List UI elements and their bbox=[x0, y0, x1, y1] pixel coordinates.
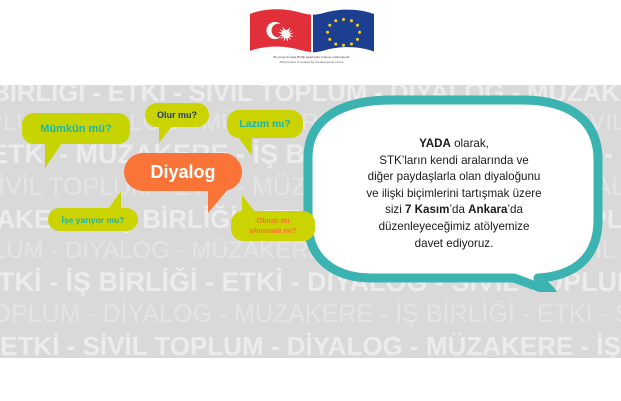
bubble-diyalog: Diyalog bbox=[124, 153, 242, 191]
bubble-line-5-mid: ’da bbox=[449, 203, 468, 216]
bubble-mumkun-mu-label: Mümkün mü? bbox=[22, 113, 130, 144]
bubble-tail bbox=[208, 187, 230, 213]
flags-svg bbox=[248, 6, 376, 56]
bubble-tail bbox=[45, 143, 62, 168]
bubble-olmali-mi: Olmalı mı olmamalı mı? bbox=[231, 211, 315, 241]
bubble-city: Ankara bbox=[468, 203, 507, 216]
poster-canvas: Bu proje Avrupa Birliği tarafından finan… bbox=[0, 0, 621, 401]
background-row: İŞ BİRLİĞİ - ETKİ - SİVİL TOPLUM - DİYAL… bbox=[0, 333, 621, 358]
bubble-ise-yariyor-mu-label: İşe yarıyor mu? bbox=[48, 208, 138, 231]
bubble-line-5: sizi 7 Kasım’da Ankara’da bbox=[318, 202, 590, 219]
footer-area: CFCU T.C. Dışişleri Bakanlığı Av bbox=[0, 358, 621, 401]
bubble-olmali-line-1: Olmalı mı bbox=[257, 216, 290, 226]
bubble-olmali-mi-label: Olmalı mı olmamalı mı? bbox=[231, 211, 315, 241]
bubble-line-1-bold: YADA bbox=[419, 137, 451, 150]
bubble-line-3: diğer paydaşlarla olan diyaloğunu bbox=[318, 169, 590, 186]
bubble-tail bbox=[159, 126, 172, 143]
bubble-line-1: YADA olarak, bbox=[318, 136, 590, 153]
funding-note-en: This project is funded by the European U… bbox=[232, 60, 392, 65]
bubble-diyalog-label: Diyalog bbox=[124, 153, 242, 191]
bubble-mumkun-mu: Mümkün mü? bbox=[22, 113, 130, 144]
bubble-olur-mu-label: Olur mu? bbox=[145, 103, 209, 127]
bubble-lazim-mi: Lazım mı? bbox=[227, 110, 303, 138]
bubble-line-2: STK’ların kendi aralarında ve bbox=[318, 153, 590, 170]
flags-group bbox=[248, 6, 376, 54]
bubble-olmali-line-2: olmamalı mı? bbox=[250, 226, 297, 236]
bubble-olur-mu: Olur mu? bbox=[145, 103, 209, 127]
bubble-ise-yariyor-mu: İşe yarıyor mu? bbox=[48, 208, 138, 231]
european-union-flag bbox=[313, 10, 374, 53]
bubble-date: 7 Kasım bbox=[405, 203, 449, 216]
header-area: Bu proje Avrupa Birliği tarafından finan… bbox=[0, 0, 621, 85]
background-row: SİVİL TOPLUM - DİYALOG - MÜZAKERE - İŞ B… bbox=[0, 302, 621, 327]
bubble-line-1-rest: olarak, bbox=[451, 137, 489, 150]
main-bubble-text: YADA olarak, STK’ların kendi aralarında … bbox=[318, 136, 590, 252]
bubble-tail bbox=[242, 195, 255, 212]
bubble-lazim-mi-label: Lazım mı? bbox=[227, 110, 303, 138]
bubble-line-7: davet ediyoruz. bbox=[318, 236, 590, 253]
bubble-line-5-post: ’da bbox=[507, 203, 522, 216]
background-row-text: SİVİL TOPLUM - DİYALOG - MÜZAKERE - İŞ B… bbox=[0, 300, 621, 328]
bubble-line-5-pre: sizi bbox=[385, 203, 405, 216]
bubble-line-6: düzenleyeceğimiz atölyemize bbox=[318, 219, 590, 236]
bubble-tail bbox=[108, 191, 121, 209]
turkey-flag bbox=[250, 9, 311, 52]
background-row-text: İŞ BİRLİĞİ - ETKİ - SİVİL TOPLUM - DİYAL… bbox=[0, 331, 621, 358]
eu-funding-disclaimer: Bu proje Avrupa Birliği tarafından finan… bbox=[232, 55, 392, 64]
bubble-line-4: ve ilişki biçimlerini tartışmak üzere bbox=[318, 186, 590, 203]
